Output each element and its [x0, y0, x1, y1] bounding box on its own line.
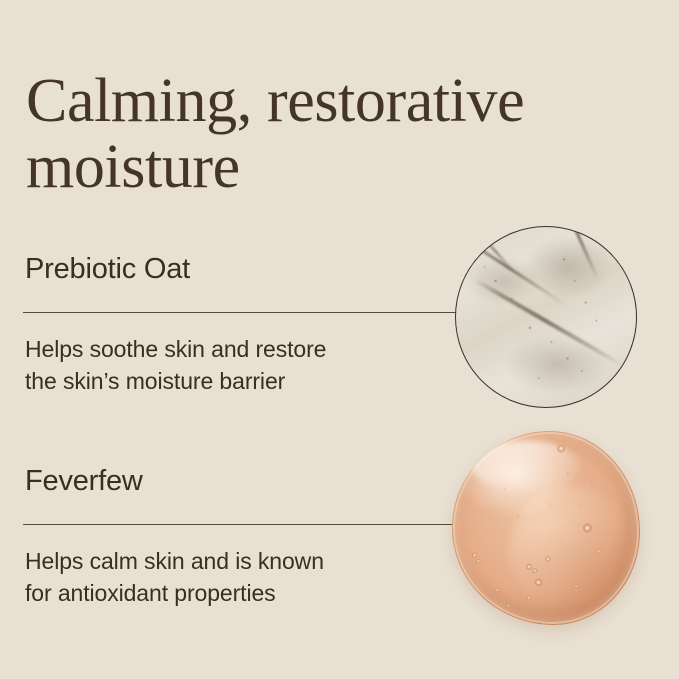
- gel-bubbles: [452, 431, 640, 625]
- page-title: Calming, restorative moisture: [26, 68, 646, 202]
- ingredient-divider-rule: [23, 524, 455, 525]
- ingredient-block-feverfew: Feverfew: [25, 464, 143, 498]
- ingredient-title: Prebiotic Oat: [25, 252, 190, 286]
- ingredient-block-prebiotic-oat: Prebiotic Oat: [25, 252, 190, 286]
- ingredient-description: Helps calm skin and is known for antioxi…: [25, 545, 425, 609]
- ingredient-benefits-panel: Calming, restorative moisture Prebiotic …: [0, 0, 679, 679]
- ingredient-divider-rule: [23, 312, 457, 313]
- oat-powder-swatch-image: [455, 226, 637, 408]
- ingredient-description: Helps soothe skin and restore the skin’s…: [25, 333, 425, 397]
- ingredient-title: Feverfew: [25, 464, 143, 498]
- feverfew-gel-swatch-image: [452, 431, 640, 625]
- powder-grains: [456, 227, 636, 407]
